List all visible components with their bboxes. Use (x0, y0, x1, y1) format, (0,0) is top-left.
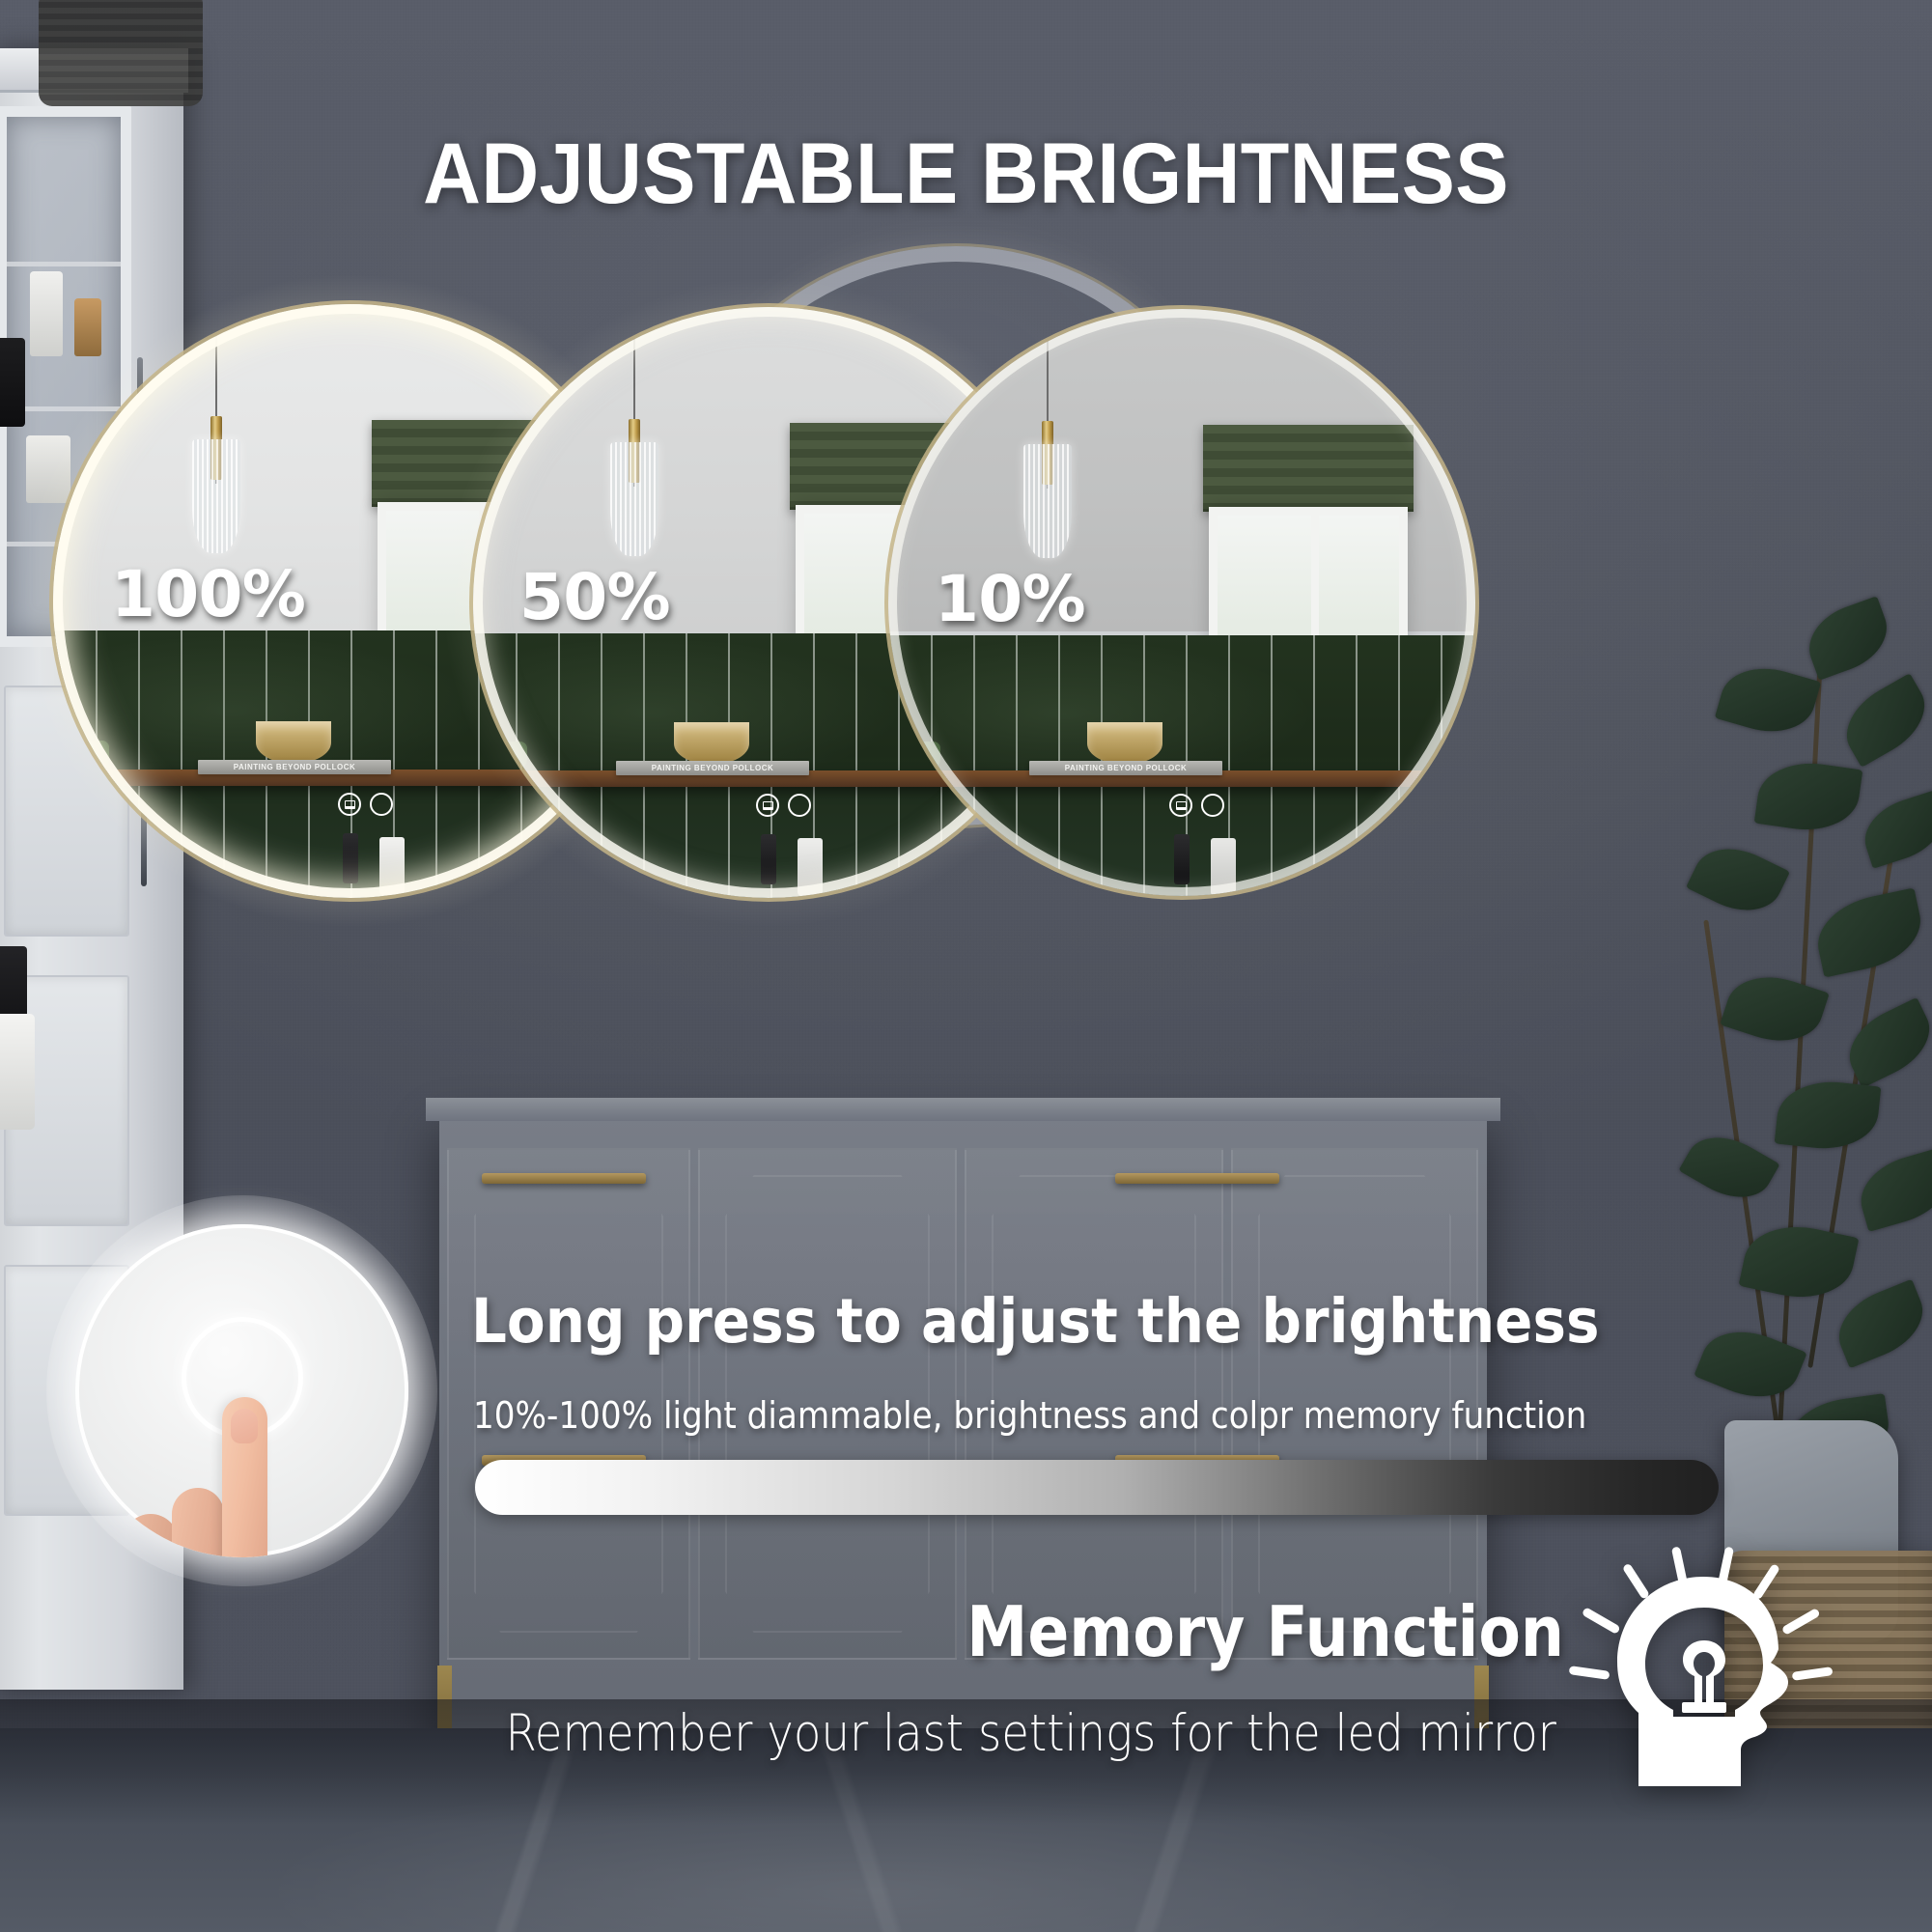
hand-finger-3 (123, 1514, 179, 1557)
memory-function-heading: Memory Function (187, 1591, 1564, 1672)
mirror-touch-controls-2[interactable] (756, 794, 811, 817)
power-icon[interactable] (370, 793, 393, 816)
touch-disc[interactable] (75, 1224, 408, 1557)
brightness-gradient-slider[interactable] (475, 1460, 1719, 1515)
mirror-touch-controls-3[interactable] (1169, 794, 1224, 817)
defogger-icon[interactable] (1169, 794, 1192, 817)
vanity-cabinet (439, 1115, 1487, 1772)
basket-contents (39, 0, 203, 106)
long-press-heading: Long press to adjust the brightness (471, 1286, 1732, 1357)
memory-function-subtext: Remember your last settings for the led … (186, 1704, 1556, 1763)
brightness-label-10: 10% (935, 562, 1085, 636)
defogger-icon[interactable] (338, 793, 361, 816)
defogger-icon[interactable] (756, 794, 779, 817)
power-icon[interactable] (1201, 794, 1224, 817)
hand-finger-2 (172, 1488, 224, 1557)
vanity-countertop (426, 1098, 1500, 1121)
brightness-label-100: 100% (111, 557, 305, 631)
black-pump-bottle (0, 338, 25, 427)
white-lotion-bottle (0, 1014, 35, 1130)
index-finger-icon (222, 1397, 267, 1557)
product-infographic: PAINTING BEYOND POLLOCK 100% (0, 0, 1932, 1932)
touch-sensor-illustration[interactable] (75, 1224, 408, 1557)
head-lightbulb-icon (1562, 1545, 1852, 1834)
mirror-10-percent[interactable]: PAINTING BEYOND POLLOCK 10% (888, 309, 1475, 896)
power-icon[interactable] (788, 794, 811, 817)
page-title: ADJUSTABLE BRIGHTNESS (68, 124, 1864, 223)
long-press-subtext: 10%-100% light diammable, brightness and… (473, 1394, 1733, 1437)
brightness-label-50: 50% (519, 560, 670, 634)
mirror-touch-controls-1[interactable] (338, 793, 393, 816)
